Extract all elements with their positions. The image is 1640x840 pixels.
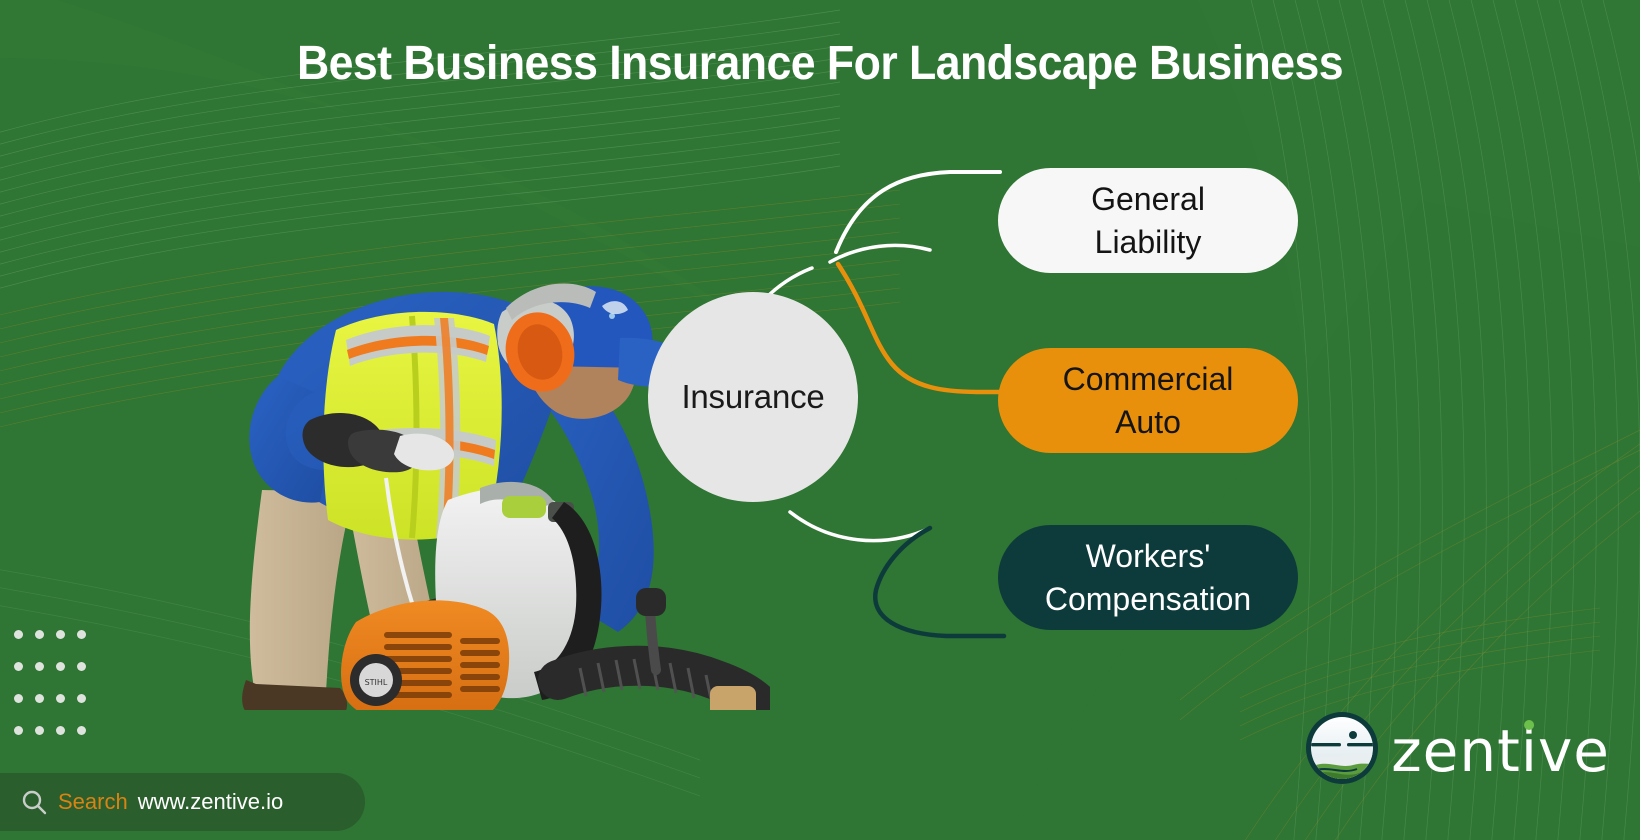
search-bar[interactable]: Search www.zentive.io (0, 773, 365, 831)
node-commercial-auto[interactable]: Commercial Auto (998, 348, 1298, 453)
node-label: General Liability (1091, 178, 1205, 263)
dot (35, 694, 44, 703)
center-node-label: Insurance (681, 378, 824, 416)
dot (14, 662, 23, 671)
dot (77, 726, 86, 735)
dot (35, 630, 44, 639)
dot (77, 694, 86, 703)
center-node-insurance[interactable]: Insurance (648, 292, 858, 502)
connector-commercial-auto (838, 264, 1004, 392)
infographic-banner: Best Business Insurance For Landscape Bu… (0, 0, 1640, 840)
dot (14, 726, 23, 735)
zentive-landscape-badge-icon (1303, 709, 1381, 792)
dot (14, 630, 23, 639)
decorative-dot-grid (14, 630, 98, 758)
zentive-logo[interactable]: zentive (1303, 709, 1610, 792)
node-general-liability[interactable]: General Liability (998, 168, 1298, 273)
svg-text:STIHL: STIHL (365, 678, 388, 687)
search-placeholder-label: Search (58, 789, 128, 815)
dot (56, 726, 65, 735)
dot (56, 662, 65, 671)
node-label: Workers' Compensation (1045, 535, 1251, 620)
zentive-wordmark: zentive (1391, 717, 1610, 785)
page-title: Best Business Insurance For Landscape Bu… (57, 36, 1582, 91)
dot (77, 630, 86, 639)
wordmark-accent-dot (1524, 720, 1534, 730)
dot (35, 662, 44, 671)
dot (14, 694, 23, 703)
dot (35, 726, 44, 735)
connector-general-liability (836, 172, 1000, 252)
dot (77, 662, 86, 671)
node-label: Commercial Auto (1063, 358, 1234, 443)
search-input-value[interactable]: www.zentive.io (138, 789, 284, 815)
dot (56, 694, 65, 703)
dot (56, 630, 65, 639)
search-icon (20, 788, 48, 816)
connector-workers-compensation (875, 528, 1004, 636)
node-workers-compensation[interactable]: Workers' Compensation (998, 525, 1298, 630)
